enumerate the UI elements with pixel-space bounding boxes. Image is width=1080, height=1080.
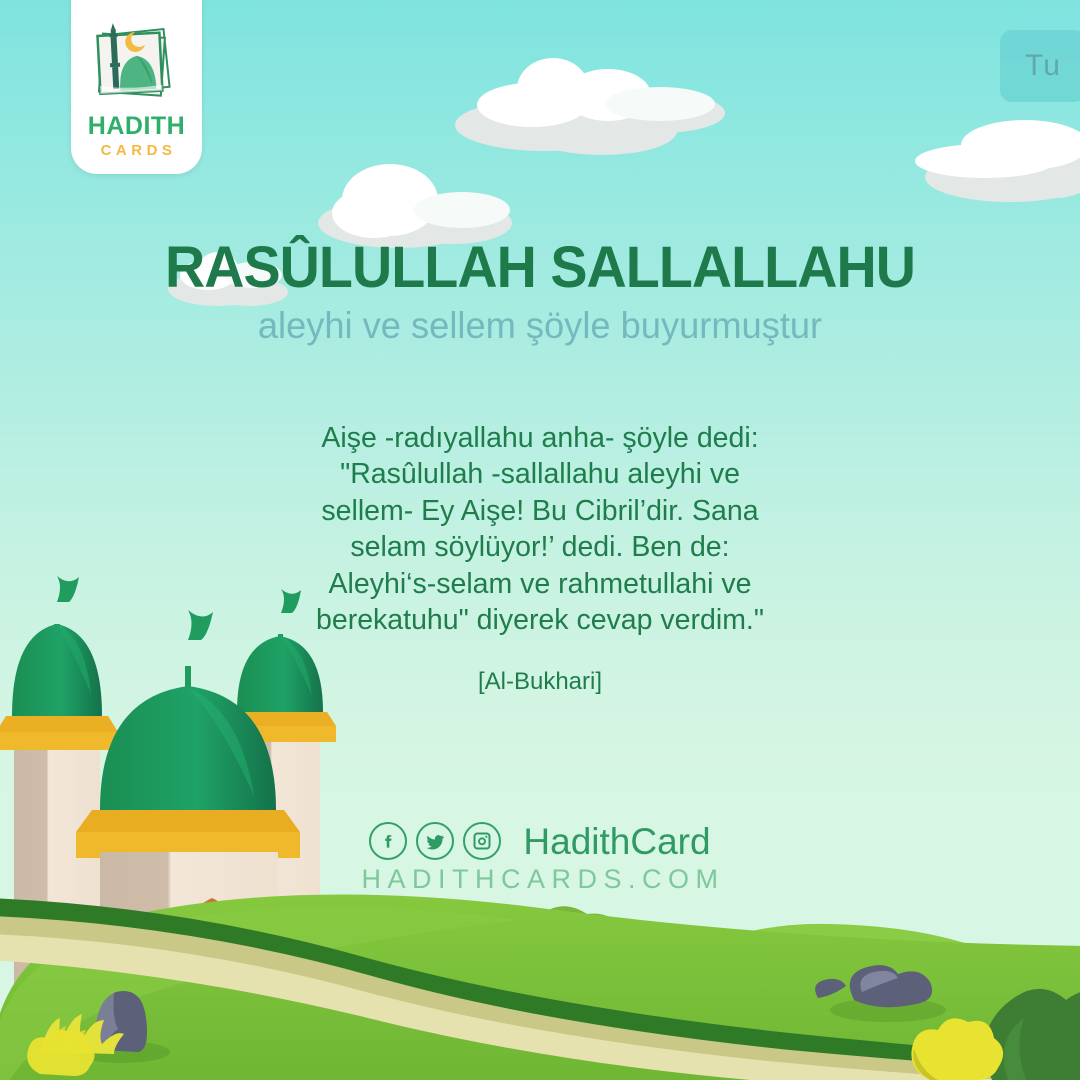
twitter-icon[interactable] <box>416 822 454 860</box>
facebook-icon[interactable] <box>369 822 407 860</box>
footer: HadithCard HADITHCARDS.COM <box>0 822 1080 895</box>
mosque-photo-cards-logo-icon <box>89 16 185 112</box>
logo-badge[interactable]: HADITH CARDS <box>71 0 202 174</box>
hadith-text: Aişe -radıyallahu anha- şöyle dedi: "Ras… <box>300 420 780 639</box>
page-subtitle: aleyhi ve sellem şöyle buyurmuştur <box>11 305 1069 348</box>
language-badge[interactable]: Tu <box>1000 30 1080 102</box>
headline-block: RASÛLULLAH SALLALLAHU aleyhi ve sellem ş… <box>0 238 1080 347</box>
page-title: RASÛLULLAH SALLALLAHU <box>22 238 1059 299</box>
social-row: HadithCard <box>369 822 710 860</box>
website-url: HADITHCARDS.COM <box>355 864 724 895</box>
brand-name: HadithCard <box>523 823 710 860</box>
instagram-icon[interactable] <box>463 822 501 860</box>
hadith-source: [Al-Bukhari] <box>0 668 1080 696</box>
logo-text-hadith: HADITH <box>88 114 185 139</box>
hadith-card: HADITH CARDS Tu RASÛLULLAH SALLALLAHU al… <box>0 0 1080 1080</box>
logo-text-cards: CARDS <box>97 143 177 158</box>
